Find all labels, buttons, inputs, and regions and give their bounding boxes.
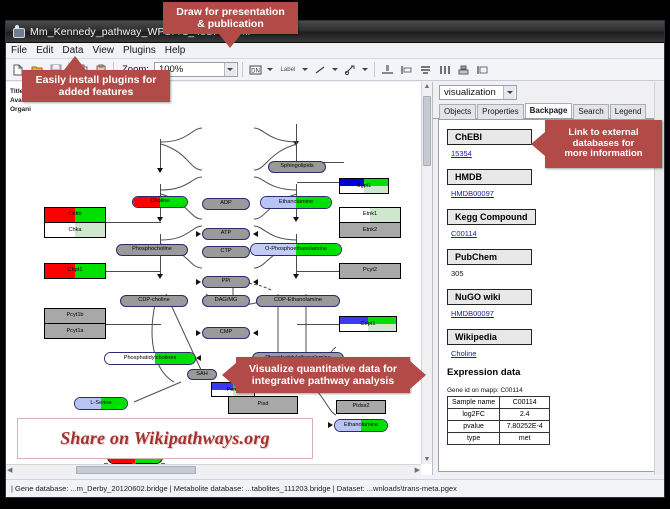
scroll-left-icon[interactable]: ◀ (7, 465, 12, 475)
expr-key-sample-name: Sample name (448, 397, 500, 409)
callout-visualize: Visualize quantitative data for integrat… (236, 357, 410, 393)
chevron-down-icon[interactable] (224, 63, 236, 76)
line-dropdown-icon[interactable] (331, 68, 340, 71)
metabolite-sah[interactable]: SAH (187, 369, 217, 380)
scroll-right-icon[interactable]: ▶ (415, 465, 420, 475)
arrow-right-cmp (196, 330, 201, 336)
edge-pcyt2-link (297, 271, 344, 272)
arrow-right-etn-bottom (328, 422, 333, 428)
metabolite-phosphocholine[interactable]: Phosphocholine (116, 244, 188, 256)
metabolite-o-phosphoethanolamine[interactable]: O-Phosphoethanolamine (250, 243, 342, 256)
metabolite-cdp-choline[interactable]: CDP-choline (120, 295, 188, 307)
gene-etnk1[interactable]: Etnk1 (340, 208, 400, 223)
gene-chpt1[interactable]: Chpt1 (44, 263, 106, 279)
gene-chkb[interactable]: Chkb (45, 208, 105, 223)
gene-pcyt2[interactable]: Pcyt2 (339, 263, 401, 279)
gene-sgpl1[interactable]: Sgpl1 (339, 178, 389, 194)
canvas-hscroll-thumb[interactable] (76, 466, 196, 474)
callout-draw-line1: Draw for presentation (176, 6, 285, 18)
db-header-hmdb: HMDB (447, 169, 532, 185)
gene-cept1[interactable]: Cept1 (339, 316, 397, 332)
metabolite-l-serine-left[interactable]: L-Serine (74, 397, 128, 410)
visualization-combo[interactable]: visualization (439, 85, 517, 100)
menu-item-file[interactable]: File (11, 45, 27, 56)
canvas-horizontal-scrollbar[interactable]: ◀ ▶ (6, 464, 421, 475)
screenshot-root: Mm_Kennedy_pathway_WP1771_45176.gpml Fil… (0, 0, 670, 509)
db-header-chebi: ChEBI (447, 129, 532, 145)
visualization-chevron-down-icon[interactable] (503, 86, 515, 99)
menu-item-view[interactable]: View (92, 45, 114, 56)
gene-pcyt1a[interactable]: Pcyt1a (45, 324, 105, 339)
arrow-down-7 (293, 274, 299, 279)
gene-pcyt1b[interactable]: Pcyt1b (45, 309, 105, 324)
callout-plugins-line2: added features (59, 86, 134, 98)
menu-bar: File Edit Data View Plugins Help (6, 43, 664, 59)
callout-visualize-pointer-right (410, 361, 426, 389)
canvas-vscroll-thumb[interactable] (423, 96, 431, 166)
toolbar-separator-3 (242, 62, 243, 77)
callout-link-line3: more information (564, 149, 642, 160)
callout-link-pointer (531, 132, 545, 156)
menu-item-plugins[interactable]: Plugins (123, 45, 156, 56)
table-row: Sample name C00114 (448, 397, 550, 409)
edge-etnk-link (297, 182, 344, 183)
callout-visualize-line2: integrative pathway analysis (252, 375, 394, 387)
side-panel-tabs: Objects Properties Backpage Search Legen… (433, 103, 664, 119)
metabolite-phosphatidylcholines[interactable]: Phosphatidylcholines (104, 352, 196, 365)
status-text: | Gene database: ...m_Derby_20120602.bri… (6, 484, 457, 493)
expr-key-log2fc: log2FC (448, 409, 500, 421)
expr-key-type: type (448, 433, 500, 445)
metabolite-ethanolamine-top[interactable]: Ethanolamine (260, 196, 332, 209)
callout-share-text: Share on Wikipathways.org (60, 428, 270, 449)
metabolite-cmp[interactable]: CMP (202, 327, 250, 339)
metabolite-sphingolipids[interactable]: Sphingolipids (268, 161, 326, 173)
arrow-right-ppi (196, 279, 201, 285)
tab-objects[interactable]: Objects (439, 104, 476, 119)
menu-item-help[interactable]: Help (165, 45, 186, 56)
order-icon[interactable] (474, 61, 491, 78)
title-bar: Mm_Kennedy_pathway_WP1771_45176.gpml (6, 21, 664, 43)
table-row: pvalue 7.80252E-4 (448, 421, 550, 433)
label-dropdown-icon[interactable] (301, 68, 310, 71)
arrow-down-1 (157, 168, 163, 173)
expr-val-sample-name: C00114 (500, 397, 550, 409)
gene-id-on-mapp: Gene id on mapp: C00114 (447, 387, 652, 394)
callout-visualize-line1: Visualize quantitative data for (249, 363, 397, 375)
pathway-canvas[interactable]: Title: Availa Organi (6, 82, 432, 475)
callout-draw-line2: & publication (197, 18, 264, 30)
align-left-icon[interactable] (398, 61, 415, 78)
align-top-icon[interactable] (379, 61, 396, 78)
db-link-nugowiki[interactable]: HMDB00097 (451, 309, 652, 318)
metabolite-ctp[interactable]: CTP (202, 246, 250, 258)
expr-val-pvalue: 7.80252E-4 (500, 421, 550, 433)
arrow-right-atp (196, 231, 201, 237)
db-header-nugowiki: NuGO wiki (447, 289, 532, 305)
anchor-dropdown-icon[interactable] (361, 68, 370, 71)
callout-visualize-pointer-left (222, 363, 236, 387)
group-icon[interactable] (455, 61, 472, 78)
metabolite-dag-mg[interactable]: DAG/MG (202, 295, 250, 307)
expr-val-log2fc: 2.4 (500, 409, 550, 421)
tab-properties[interactable]: Properties (477, 104, 523, 119)
callout-plugins: Easily install plugins for added feature… (22, 70, 170, 102)
metabolite-choline-top[interactable]: Choline (132, 196, 188, 208)
db-header-kegg: Kegg Compound (447, 209, 536, 225)
toolbar-separator-4 (374, 62, 375, 77)
backpage-content: ChEBI 15354 HMDB HMDB00097 Kegg Compound… (438, 119, 661, 472)
gene-pisd[interactable]: Pisd (228, 396, 298, 414)
callout-plugins-line1: Easily install plugins for (36, 74, 157, 86)
tab-search[interactable]: Search (573, 104, 608, 119)
callout-link: Link to external databases for more info… (545, 120, 662, 168)
arrow-down-6 (293, 217, 299, 222)
callout-draw-pointer (219, 34, 241, 48)
canvas-organism-label: Organi (10, 106, 31, 113)
metabolite-adp[interactable]: ADP (202, 198, 250, 210)
label-tool-icon[interactable]: Label (277, 61, 299, 78)
gene-box-pcyt1[interactable]: Pcyt1b Pcyt1a (44, 308, 106, 339)
distribute-icon[interactable] (436, 61, 453, 78)
db-header-pubchem: PubChem (447, 249, 532, 265)
expression-table: Sample name C00114 log2FC 2.4 pvalue 7.8… (447, 396, 550, 445)
arrow-down-3 (157, 274, 163, 279)
menu-item-data[interactable]: Data (62, 45, 83, 56)
edge-pcyt1-link (106, 324, 161, 325)
arrow-left-atp2 (253, 231, 258, 237)
tab-legend[interactable]: Legend (610, 104, 647, 119)
app-icon (12, 25, 25, 38)
callout-share: Share on Wikipathways.org (17, 418, 313, 459)
db-link-wikipedia[interactable]: Choline (451, 349, 652, 358)
gene-ptdss2[interactable]: Ptdss2 (336, 400, 386, 414)
arrow-left-ppi2 (253, 279, 258, 285)
callout-plugins-pointer (64, 56, 86, 70)
gene-etnk2[interactable]: Etnk2 (340, 223, 400, 238)
tab-backpage[interactable]: Backpage (525, 103, 573, 118)
callout-link-line1: Link to external (568, 128, 638, 139)
line-tool-icon[interactable] (312, 61, 329, 78)
canvas-vertical-scrollbar[interactable]: ▲ ▼ (421, 82, 432, 464)
table-row: type met (448, 433, 550, 445)
stack-icon[interactable] (417, 61, 434, 78)
edge-chk-link (106, 222, 161, 223)
datanode-dropdown-icon[interactable] (266, 68, 275, 71)
db-value-pubchem: 305 (451, 269, 652, 278)
visualization-value: visualization (444, 87, 496, 98)
metabolite-ethanolamine-bottom[interactable]: Ethanolamine (334, 419, 388, 432)
db-header-wikipedia: Wikipedia (447, 329, 532, 345)
datanode-tool-icon[interactable]: DN (247, 61, 264, 78)
metabolite-cdp-ethanolamine[interactable]: CDP-Ethanolamine (256, 295, 340, 307)
callout-draw: Draw for presentation & publication (163, 2, 298, 34)
table-row: log2FC 2.4 (448, 409, 550, 421)
edge-cept1-link (297, 324, 344, 325)
arrow-left-pc (196, 355, 201, 361)
metabolite-ppi[interactable]: PPi (202, 276, 250, 288)
metabolite-atp[interactable]: ATP (202, 228, 250, 240)
gene-box-chk[interactable]: Chkb Chka (44, 207, 106, 238)
expr-val-type: met (500, 433, 550, 445)
anchor-tool-icon[interactable] (342, 61, 359, 78)
edge-chpt1-link (106, 271, 161, 272)
arrow-left-cmp2 (253, 330, 258, 336)
scroll-down-icon[interactable]: ▼ (422, 456, 432, 463)
status-bar: | Gene database: ...m_Derby_20120602.bri… (6, 479, 664, 497)
expression-data-heading: Expression data (447, 367, 652, 378)
pathway-canvas-panel[interactable]: Title: Availa Organi (6, 82, 433, 475)
scroll-up-icon[interactable]: ▲ (422, 83, 432, 90)
db-link-hmdb[interactable]: HMDB00097 (451, 189, 652, 198)
edge-choline-phosphocholine (160, 139, 161, 171)
menu-item-edit[interactable]: Edit (36, 45, 53, 56)
gene-box-etnk[interactable]: Etnk1 Etnk2 (339, 207, 401, 238)
svg-text:DN: DN (251, 68, 260, 74)
expr-key-pvalue: pvalue (448, 421, 500, 433)
gene-chka[interactable]: Chka (45, 223, 105, 238)
db-link-kegg[interactable]: C00114 (451, 229, 652, 238)
